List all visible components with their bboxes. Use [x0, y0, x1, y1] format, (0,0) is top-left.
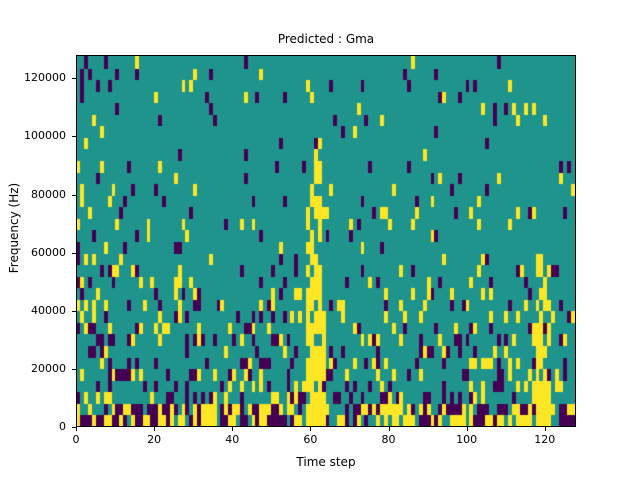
heatmap-image	[77, 56, 575, 426]
y-tick-mark	[72, 195, 76, 196]
y-tick-mark	[72, 311, 76, 312]
y-tick-label: 40000	[0, 304, 66, 317]
x-tick-mark	[389, 427, 390, 431]
x-tick-label: 0	[54, 433, 98, 446]
x-tick-label: 80	[367, 433, 411, 446]
y-tick-mark	[72, 78, 76, 79]
y-axis-label: Frequency (Hz)	[7, 168, 21, 288]
x-tick-label: 120	[523, 433, 567, 446]
y-tick-label: 120000	[0, 71, 66, 84]
y-tick-label: 20000	[0, 362, 66, 375]
x-tick-mark	[154, 427, 155, 431]
y-tick-label: 60000	[0, 246, 66, 259]
y-tick-mark	[72, 253, 76, 254]
y-tick-label: 0	[0, 420, 66, 433]
x-tick-mark	[467, 427, 468, 431]
y-tick-mark	[72, 369, 76, 370]
page-title: Predicted : Gma	[76, 31, 576, 47]
figure-canvas: Predicted : Gma Frequency (Hz) Time step…	[0, 0, 640, 480]
y-tick-label: 80000	[0, 188, 66, 201]
x-axis-label: Time step	[76, 455, 576, 469]
x-tick-label: 100	[445, 433, 489, 446]
x-tick-mark	[232, 427, 233, 431]
y-tick-mark	[72, 427, 76, 428]
x-tick-label: 20	[132, 433, 176, 446]
y-tick-label: 100000	[0, 129, 66, 142]
x-tick-label: 60	[288, 433, 332, 446]
x-tick-mark	[76, 427, 77, 431]
y-tick-mark	[72, 136, 76, 137]
x-tick-label: 40	[210, 433, 254, 446]
x-tick-mark	[545, 427, 546, 431]
x-tick-mark	[310, 427, 311, 431]
heatmap-plot-area[interactable]	[76, 55, 576, 427]
